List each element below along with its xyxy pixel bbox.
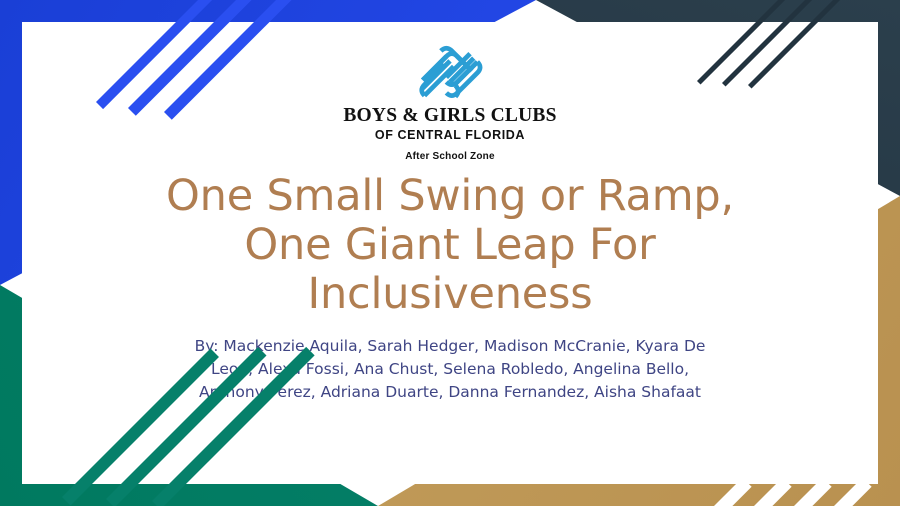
content-card: BOYS & GIRLS CLUBS OF CENTRAL FLORIDA Af… [22, 22, 878, 484]
boys-and-girls-clubs-hands-icon [404, 40, 496, 102]
title-slide: BOYS & GIRLS CLUBS OF CENTRAL FLORIDA Af… [0, 0, 900, 506]
logo-tagline: After School Zone [405, 151, 495, 162]
slide-title: One Small Swing or Ramp, One Giant Leap … [130, 172, 770, 319]
organization-logo: BOYS & GIRLS CLUBS OF CENTRAL FLORIDA Af… [343, 40, 556, 162]
logo-subtitle: OF CENTRAL FLORIDA [375, 128, 525, 142]
logo-wordmark: BOYS & GIRLS CLUBS [343, 105, 556, 127]
author-list: By: Mackenzie Aquila, Sarah Hedger, Madi… [178, 335, 723, 404]
